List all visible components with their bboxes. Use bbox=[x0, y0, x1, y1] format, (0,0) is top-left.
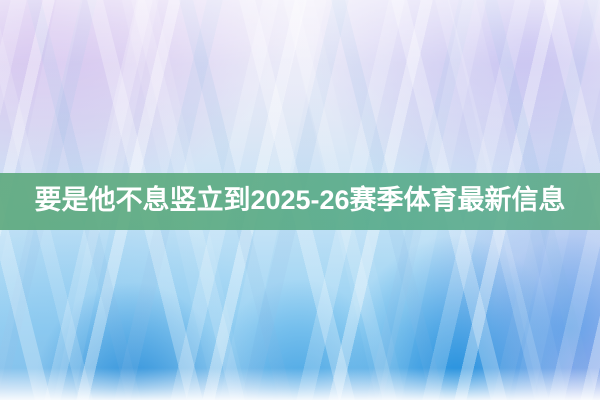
title-band: 要是他不息竖立到2025-26赛季体育最新信息 bbox=[0, 173, 600, 230]
banner-image: 要是他不息竖立到2025-26赛季体育最新信息 bbox=[0, 0, 600, 400]
banner-title: 要是他不息竖立到2025-26赛季体育最新信息 bbox=[34, 187, 565, 214]
